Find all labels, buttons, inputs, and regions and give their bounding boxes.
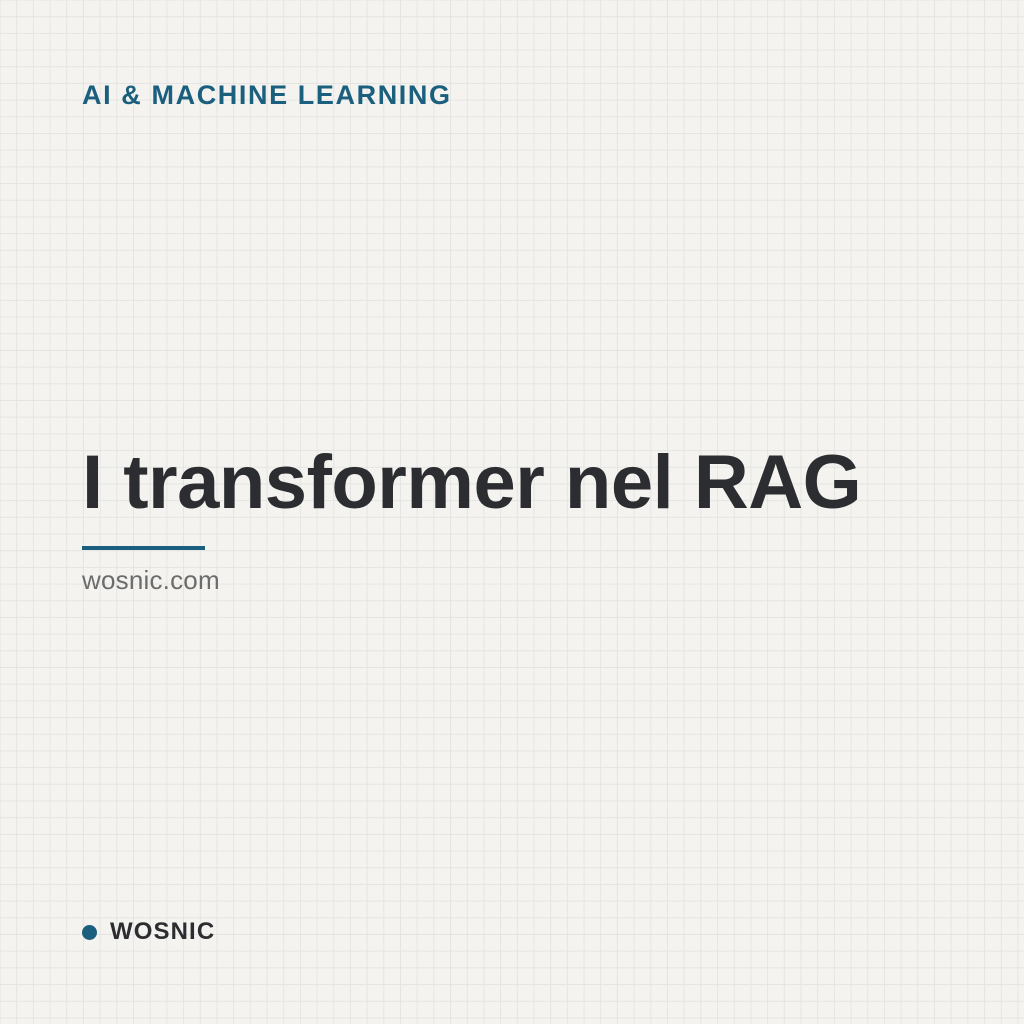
brand-footer: WOSNIC [82, 918, 215, 946]
title-block: I transformer nel RAG wosnic.com [82, 440, 942, 596]
accent-divider [82, 546, 205, 550]
category-eyebrow: AI & MACHINE LEARNING [82, 78, 452, 112]
social-card: AI & MACHINE LEARNING I transformer nel … [0, 0, 1024, 1024]
brand-dot-icon [82, 925, 97, 940]
site-subtitle: wosnic.com [82, 564, 942, 596]
page-title: I transformer nel RAG [82, 440, 942, 526]
brand-name: WOSNIC [110, 918, 215, 946]
